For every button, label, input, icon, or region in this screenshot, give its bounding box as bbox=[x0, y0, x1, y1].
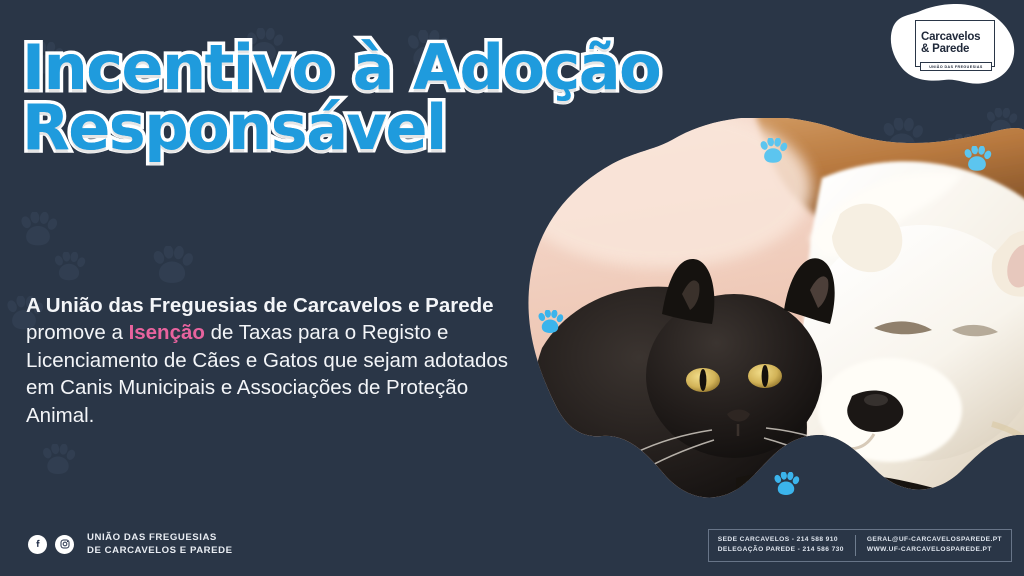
footer-org-line-2: DE CARCAVELOS E PAREDE bbox=[87, 544, 233, 558]
paw-icon bbox=[962, 146, 992, 179]
body-copy-highlight: Isenção bbox=[129, 321, 205, 344]
paw-watermark-icon bbox=[40, 444, 76, 478]
footer-divider bbox=[855, 535, 856, 556]
footer-contact-line-2: DELEGAÇÃO PAREDE - 214 586 730 bbox=[718, 545, 844, 556]
page-title: Incentivo à Adoção Responsável bbox=[22, 38, 782, 157]
body-copy-bold: A União das Freguesias de Carcavelos e P… bbox=[26, 294, 494, 317]
pets-photo bbox=[522, 118, 1024, 522]
poster-canvas: Incentivo à Adoção Responsável Incentivo… bbox=[0, 0, 1024, 576]
facebook-icon[interactable] bbox=[28, 535, 47, 554]
logo-line-1: Carcavelos bbox=[921, 31, 989, 43]
brand-logo[interactable]: Carcavelos & Parede UNIÃO DAS FREGUESIAS bbox=[890, 4, 1016, 86]
paw-watermark-icon bbox=[18, 212, 58, 250]
body-copy-seg2: promove a bbox=[26, 321, 129, 344]
footer-contact-block: SEDE CARCAVELOS - 214 588 910 DELEGAÇÃO … bbox=[708, 529, 1012, 562]
footer-contact-line-4[interactable]: WWW.UF-CARCAVELOSPAREDE.PT bbox=[867, 545, 1002, 556]
footer-org-name: UNIÃO DAS FREGUESIAS DE CARCAVELOS E PAR… bbox=[87, 531, 233, 558]
paw-icon bbox=[536, 310, 564, 341]
footer-org-line-1: UNIÃO DAS FREGUESIAS bbox=[87, 531, 233, 545]
paw-watermark-icon bbox=[52, 252, 86, 284]
instagram-icon[interactable] bbox=[55, 535, 74, 554]
footer-web-col: GERAL@UF-CARCAVELOSPAREDE.PT WWW.UF-CARC… bbox=[867, 535, 1002, 556]
logo-line-2: & Parede bbox=[921, 43, 989, 55]
paw-watermark-icon bbox=[150, 246, 194, 288]
footer-contact-line-1: SEDE CARCAVELOS - 214 588 910 bbox=[718, 535, 844, 546]
logo-subtitle: UNIÃO DAS FREGUESIAS bbox=[920, 62, 992, 71]
paw-icon bbox=[772, 472, 800, 503]
pets-photo-illustration bbox=[522, 118, 1024, 522]
body-copy: A União das Freguesias de Carcavelos e P… bbox=[26, 292, 526, 429]
footer-phone-col: SEDE CARCAVELOS - 214 588 910 DELEGAÇÃO … bbox=[718, 535, 844, 556]
footer-social-block: UNIÃO DAS FREGUESIAS DE CARCAVELOS E PAR… bbox=[28, 531, 233, 558]
footer-contact-line-3[interactable]: GERAL@UF-CARCAVELOSPAREDE.PT bbox=[867, 535, 1002, 546]
logo-box: Carcavelos & Parede bbox=[915, 20, 995, 67]
